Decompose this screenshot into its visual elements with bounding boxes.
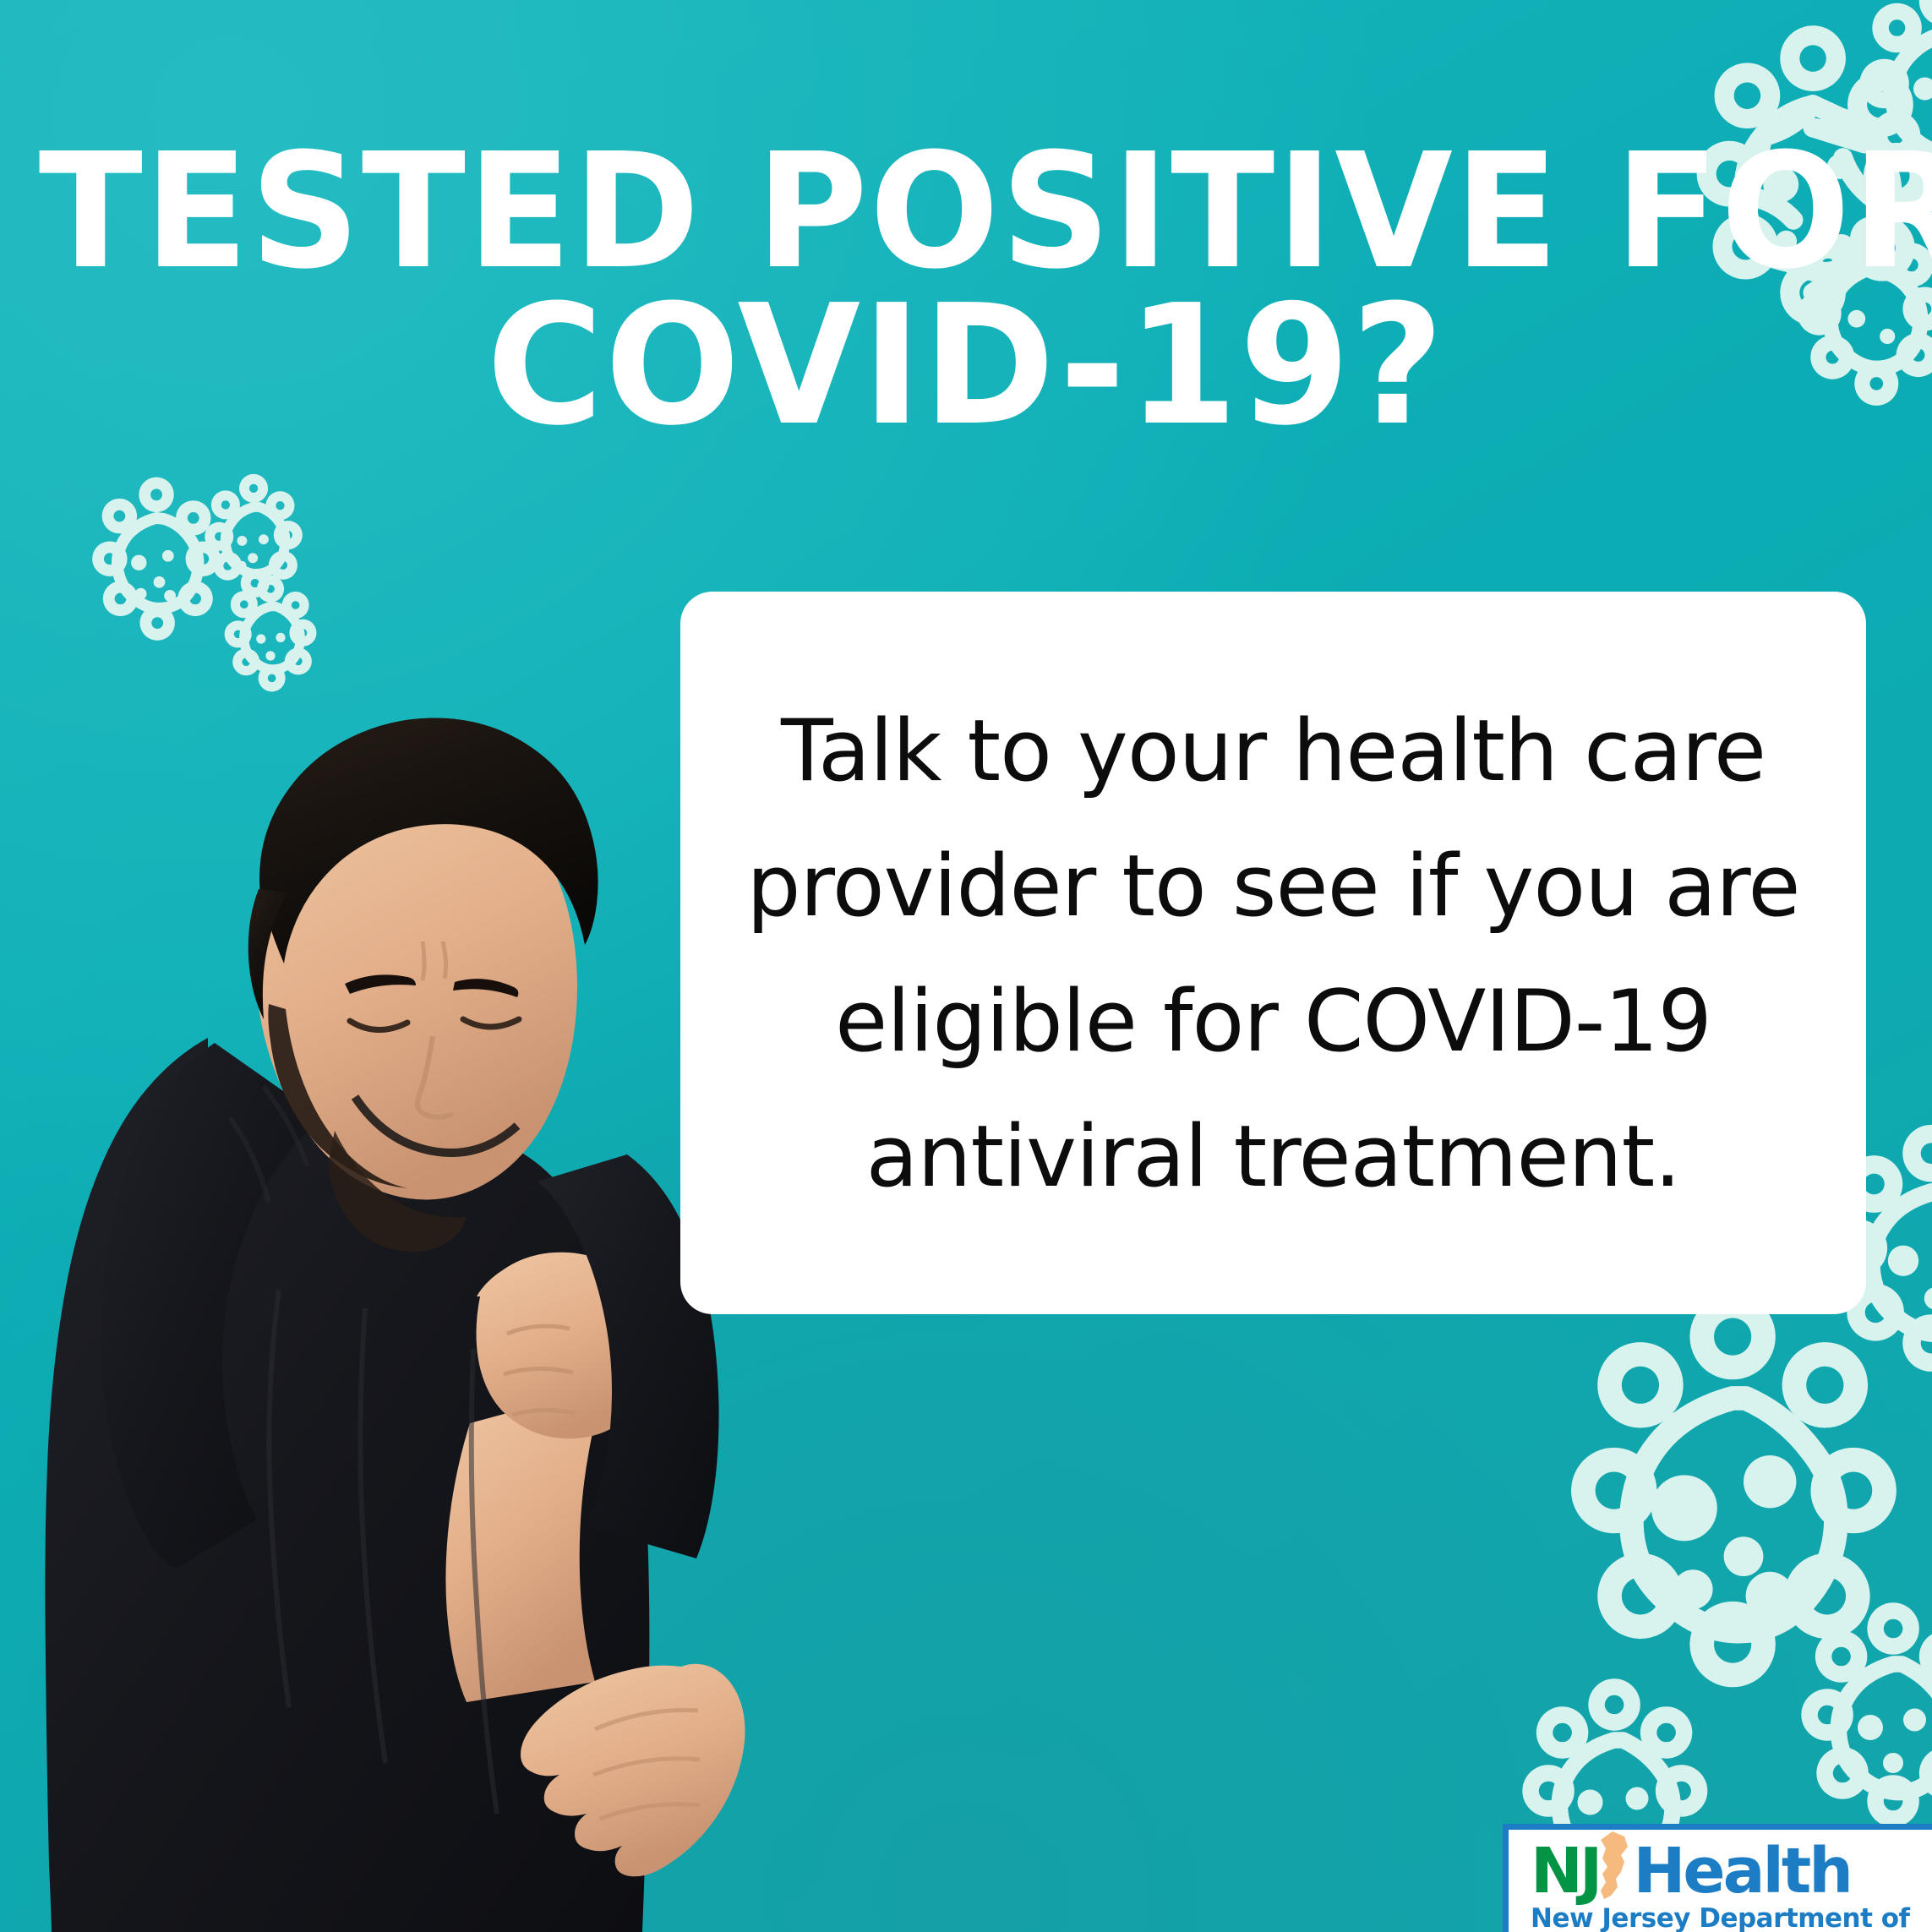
nj-health-logo: NJ Health New Jersey Department of Healt…: [1503, 1824, 1932, 1932]
poster-headline: Tested Positive For COVID-19?: [39, 135, 1894, 443]
new-jersey-state-icon: [1587, 1830, 1638, 1902]
poster-canvas: Tested Positive For COVID-19?: [0, 0, 1932, 1932]
headline-line-1: Tested Positive For: [39, 135, 1894, 289]
logo-health-text: Health: [1633, 1840, 1850, 1902]
headline-line-2: COVID-19?: [39, 289, 1894, 443]
coronavirus-icon: [1766, 1606, 1932, 1859]
message-card-text: Talk to your health care provider to see…: [680, 683, 1866, 1224]
logo-tagline: New Jersey Department of Health: [1531, 1904, 1932, 1932]
logo-wordmark: NJ Health: [1531, 1836, 1932, 1902]
message-card: Talk to your health care provider to see…: [680, 592, 1866, 1314]
